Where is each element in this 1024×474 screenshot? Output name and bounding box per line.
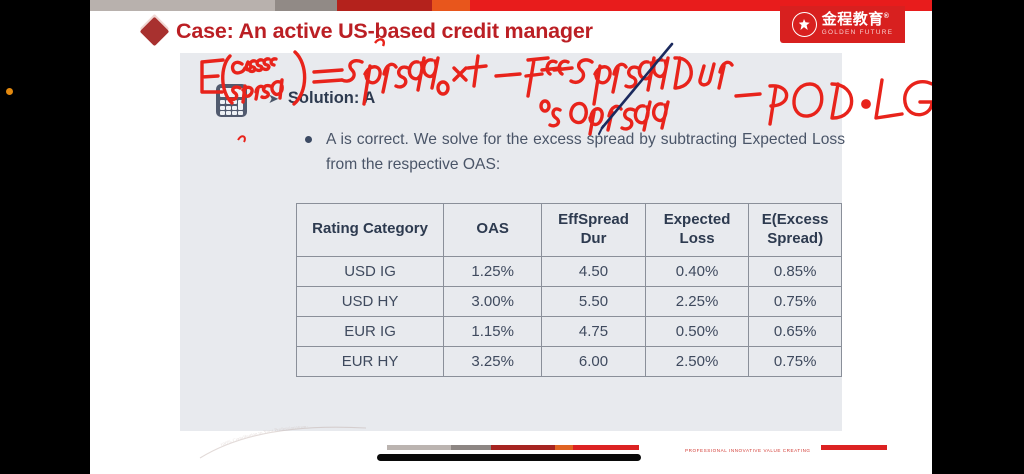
footer-tagline: PROFESSIONAL INNOVATIVE VALUE CREATING [685, 448, 811, 453]
cell-category: USD IG [297, 256, 444, 286]
brand-wordmark: 金程教育® GOLDEN FUTURE [822, 12, 894, 36]
status-dot-icon [6, 88, 13, 95]
table-row: USD IG 1.25% 4.50 0.40% 0.85% [297, 256, 842, 286]
seal-star-icon [792, 12, 817, 37]
svg-text:100% Contribution to Your Prof: 100% Contribution to Your Professionalis… [220, 426, 309, 449]
cell-excess-spread: 0.65% [749, 316, 842, 346]
table-row: EUR HY 3.25% 6.00 2.50% 0.75% [297, 346, 842, 376]
solution-body-row: A is correct. We solve for the excess sp… [305, 127, 845, 178]
cell-category: EUR IG [297, 316, 444, 346]
calculator-keys [220, 100, 243, 115]
cell-expected-loss: 0.50% [645, 316, 749, 346]
video-player-screen: Case: An active US-based credit manager … [0, 0, 1024, 474]
home-indicator-bar[interactable] [377, 454, 641, 461]
footer-watermark: 100% Contribution to Your Professionalis… [198, 426, 398, 460]
cell-excess-spread: 0.85% [749, 256, 842, 286]
calculator-icon [216, 84, 247, 117]
cell-expected-loss: 0.40% [645, 256, 749, 286]
content-panel: ➤ Solution: A A is correct. We solve for… [180, 53, 842, 431]
bullet-dot-icon [305, 136, 312, 143]
table-row: USD HY 3.00% 5.50 2.25% 0.75% [297, 286, 842, 316]
solution-heading-row: ➤ Solution: A [268, 89, 375, 108]
cell-oas: 1.15% [444, 316, 542, 346]
cell-oas: 3.00% [444, 286, 542, 316]
cell-excess-spread: 0.75% [749, 286, 842, 316]
presentation-slide: Case: An active US-based credit manager … [90, 0, 932, 474]
brand-logo: 金程教育® GOLDEN FUTURE [780, 6, 905, 43]
brand-name-cn: 金程教育® [822, 12, 894, 27]
cell-eff-spread-dur: 4.75 [542, 316, 646, 346]
page-title: Case: An active US-based credit manager [176, 19, 593, 44]
brand-name-en: GOLDEN FUTURE [822, 30, 894, 36]
calculator-display [220, 88, 243, 97]
credit-spread-table: Rating Category OAS EffSpread Dur Expect… [296, 203, 842, 377]
column-header-excess-spread: E(Excess Spread) [749, 204, 842, 257]
cell-expected-loss: 2.25% [645, 286, 749, 316]
column-header-oas: OAS [444, 204, 542, 257]
table-row: EUR IG 1.15% 4.75 0.50% 0.65% [297, 316, 842, 346]
column-header-expected-loss: Expected Loss [645, 204, 749, 257]
chevron-right-icon: ➤ [268, 92, 279, 105]
footer-decorative-bar [387, 445, 887, 450]
cell-oas: 3.25% [444, 346, 542, 376]
slide-title-row: Case: An active US-based credit manager [144, 19, 593, 44]
cell-category: USD HY [297, 286, 444, 316]
cell-excess-spread: 0.75% [749, 346, 842, 376]
footer-watermark-text: 100% Contribution to Your Professionalis… [220, 426, 309, 449]
column-header-rating-category: Rating Category [297, 204, 444, 257]
cell-expected-loss: 2.50% [645, 346, 749, 376]
table-header-row: Rating Category OAS EffSpread Dur Expect… [297, 204, 842, 257]
cell-eff-spread-dur: 6.00 [542, 346, 646, 376]
solution-body-text: A is correct. We solve for the excess sp… [326, 127, 845, 178]
solution-heading: Solution: A [288, 89, 375, 108]
cell-eff-spread-dur: 5.50 [542, 286, 646, 316]
cell-category: EUR HY [297, 346, 444, 376]
cell-eff-spread-dur: 4.50 [542, 256, 646, 286]
registered-mark: ® [884, 13, 890, 20]
column-header-effspread-dur: EffSpread Dur [542, 204, 646, 257]
cell-oas: 1.25% [444, 256, 542, 286]
diamond-icon [140, 17, 170, 47]
